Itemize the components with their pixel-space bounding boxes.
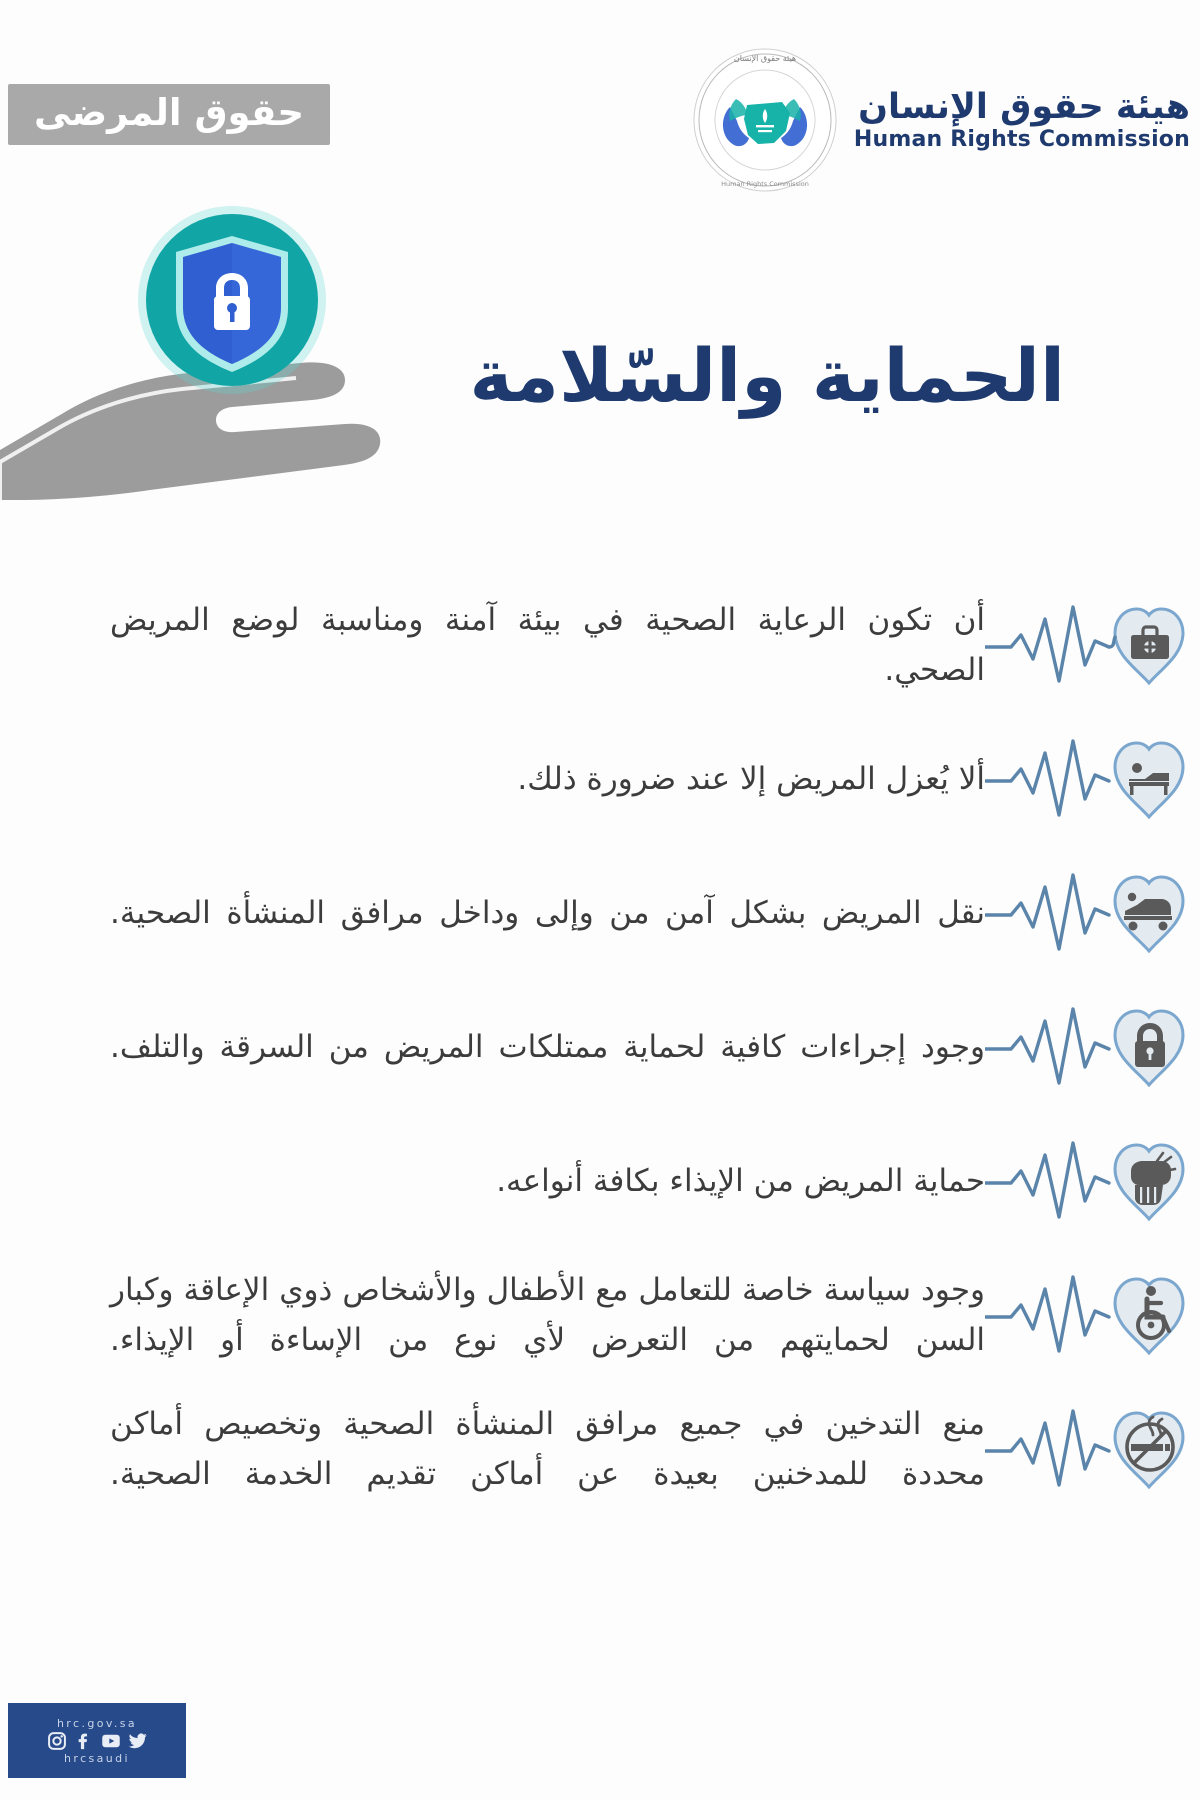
shield-lock-on-hand-icon: [0, 200, 470, 510]
page-header: حقوق المرضى هيئة حقوق الإنسان Human Righ…: [0, 0, 1200, 200]
twitter-icon[interactable]: [128, 1731, 148, 1751]
brand-name-english: Human Rights Commission: [854, 127, 1190, 153]
brand-name-arabic: هيئة حقوق الإنسان: [854, 87, 1190, 127]
no-smoking-heart-icon: [985, 1389, 1200, 1509]
page-tab-badge: حقوق المرضى: [8, 84, 330, 145]
hero-section: الحماية والسّلامة: [0, 200, 1200, 510]
patient-transfer-heart-icon: [985, 853, 1200, 973]
hospital-bed-heart-icon: [985, 719, 1200, 839]
list-item: حماية المريض من الإيذاء بكافة أنواعه.: [0, 1121, 1200, 1241]
list-item-text: حماية المريض من الإيذاء بكافة أنواعه.: [0, 1156, 985, 1206]
rights-list: أن تكون الرعاية الصحية في بيئة آمنة ومنا…: [0, 585, 1200, 1523]
hero-title: الحماية والسّلامة: [470, 340, 1065, 413]
facebook-icon[interactable]: [74, 1731, 94, 1751]
brand-lockup: هيئة حقوق الإنسان Human Rights Commissio…: [690, 45, 1190, 195]
list-item-text: وجود سياسة خاصة للتعامل مع الأطفال والأش…: [0, 1265, 985, 1365]
list-item-text: منع التدخين في جميع مرافق المنشأة الصحية…: [0, 1399, 985, 1499]
list-item: ألا يُعزل المريض إلا عند ضرورة ذلك.: [0, 719, 1200, 839]
list-item: وجود إجراءات كافية لحماية ممتلكات المريض…: [0, 987, 1200, 1107]
instagram-icon[interactable]: [47, 1731, 67, 1751]
svg-text:Human Rights Commission: Human Rights Commission: [721, 180, 809, 188]
list-item-text: وجود إجراءات كافية لحماية ممتلكات المريض…: [0, 1022, 985, 1072]
medical-bag-heart-icon: [985, 585, 1200, 705]
wheelchair-heart-icon: [985, 1255, 1200, 1375]
list-item: أن تكون الرعاية الصحية في بيئة آمنة ومنا…: [0, 585, 1200, 705]
hrc-seal-logo-icon: هيئة حقوق الإنسان Human Rights Commissio…: [690, 45, 840, 195]
youtube-icon[interactable]: [101, 1731, 121, 1751]
list-item: نقل المريض بشكل آمن من وإلى وداخل مرافق …: [0, 853, 1200, 973]
list-item-text: أن تكون الرعاية الصحية في بيئة آمنة ومنا…: [0, 595, 985, 695]
list-item-text: نقل المريض بشكل آمن من وإلى وداخل مرافق …: [0, 888, 985, 938]
padlock-heart-icon: [985, 987, 1200, 1107]
svg-text:هيئة حقوق الإنسان: هيئة حقوق الإنسان: [734, 54, 796, 64]
footer-social-icons: [47, 1731, 148, 1751]
footer-handle: hrcsaudi: [64, 1753, 130, 1764]
fist-abuse-heart-icon: [985, 1121, 1200, 1241]
list-item: وجود سياسة خاصة للتعامل مع الأطفال والأش…: [0, 1255, 1200, 1375]
footer-social-badge: hrc.gov.sa hrcsaudi: [8, 1703, 186, 1778]
list-item: منع التدخين في جميع مرافق المنشأة الصحية…: [0, 1389, 1200, 1509]
footer-website: hrc.gov.sa: [57, 1718, 137, 1729]
list-item-text: ألا يُعزل المريض إلا عند ضرورة ذلك.: [0, 754, 985, 804]
brand-text: هيئة حقوق الإنسان Human Rights Commissio…: [854, 87, 1190, 154]
